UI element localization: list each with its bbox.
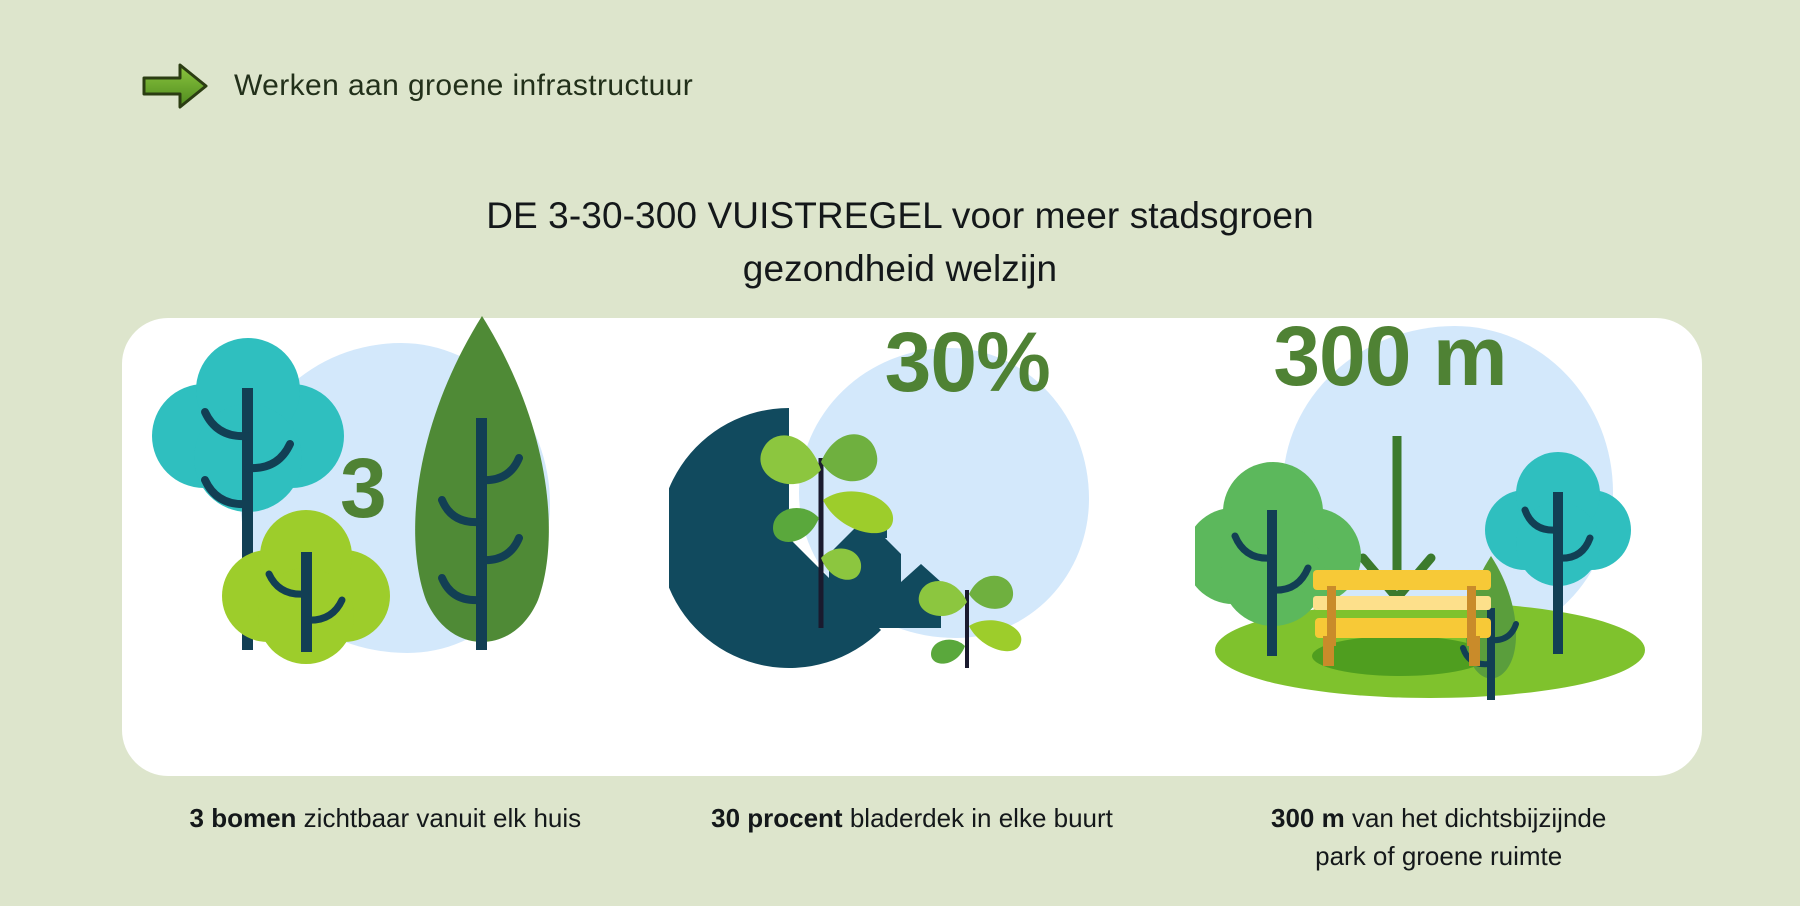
- panel-thirty-percent: 30%: [649, 318, 1176, 776]
- caption-row: 3 bomen zichtbaar vanuit elk huis 30 pro…: [122, 800, 1702, 875]
- page-title: DE 3-30-300 VUISTREGEL voor meer stadsgr…: [0, 190, 1800, 295]
- caption-thirty-percent: 30 procent bladerdek in elke buurt: [649, 800, 1176, 875]
- panel-row: 3: [122, 318, 1702, 776]
- caption-bold: 30 procent: [711, 803, 843, 833]
- page-title-line2: gezondheid welzijn: [0, 243, 1800, 296]
- caption-three-hundred-meters: 300 m van het dichtsbijzijnde park of gr…: [1175, 800, 1702, 875]
- pie-chart-houses-sprouts-illustration: [669, 358, 1109, 708]
- header-row: Werken aan groene infrastructuur: [142, 62, 693, 110]
- illustration-card: 3: [122, 318, 1702, 776]
- caption-rest: van het dichtsbijzijnde: [1345, 803, 1607, 833]
- caption-rest: zichtbaar vanuit elk huis: [296, 803, 581, 833]
- header-title: Werken aan groene infrastructuur: [234, 69, 693, 103]
- right-arrow-icon: [142, 62, 208, 110]
- page-title-line1: DE 3-30-300 VUISTREGEL voor meer stadsgr…: [486, 195, 1314, 236]
- caption-rest: bladerdek in elke buurt: [843, 803, 1113, 833]
- caption-line2: park of groene ruimte: [1193, 838, 1684, 876]
- three-trees-illustration: [142, 308, 582, 708]
- panel-three-hundred-meters: 300 m: [1175, 318, 1702, 776]
- caption-bold: 300 m: [1271, 803, 1345, 833]
- caption-bold: 3 bomen: [190, 803, 297, 833]
- caption-three-trees: 3 bomen zichtbaar vanuit elk huis: [122, 800, 649, 875]
- park-bench-trees-arrow-illustration: [1195, 378, 1665, 718]
- panel-three-trees: 3: [122, 318, 649, 776]
